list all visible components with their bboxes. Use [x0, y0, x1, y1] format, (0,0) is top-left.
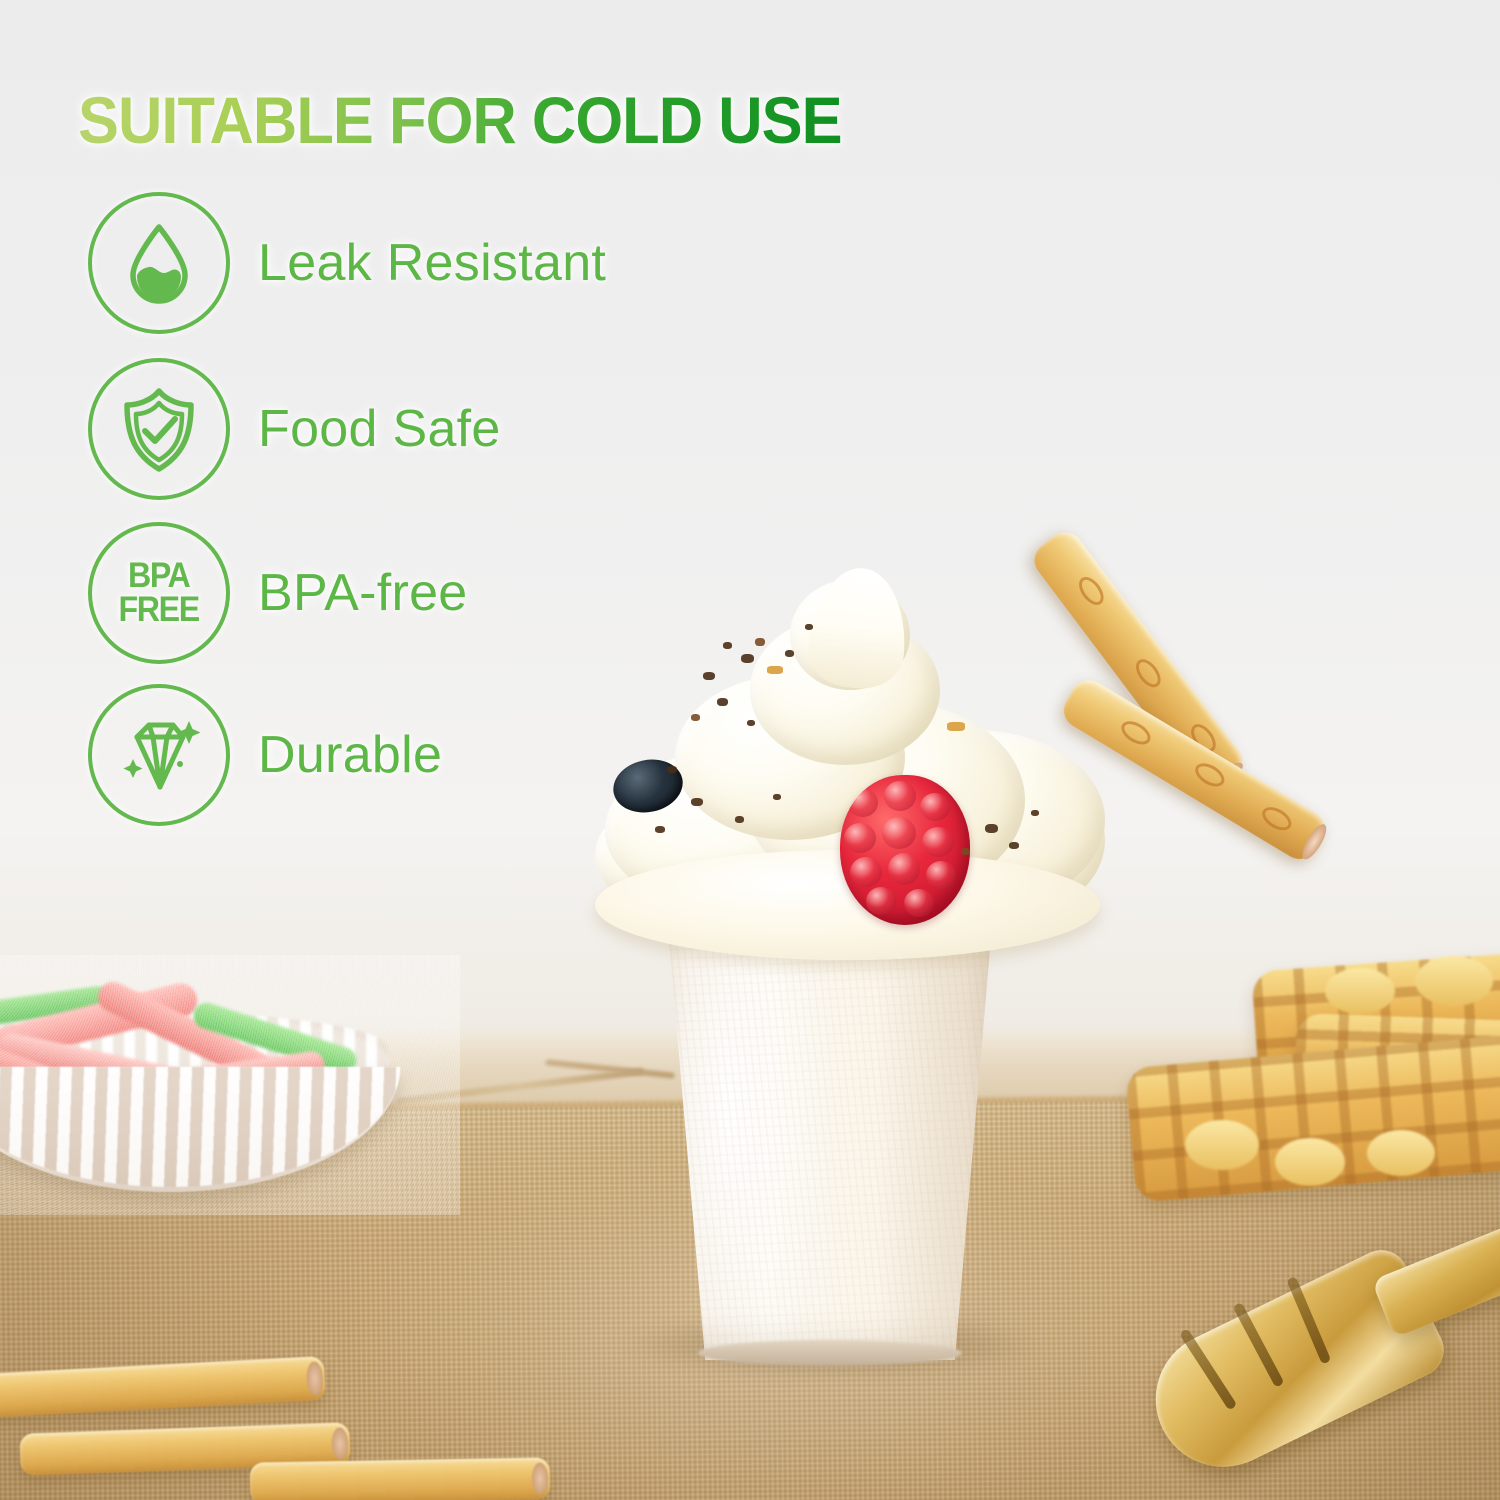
bpa-badge-line-1: BPA	[128, 559, 189, 593]
feature-item-food-safe: Food Safe	[88, 358, 501, 500]
feature-label: BPA-free	[258, 563, 468, 623]
water-drop-icon	[88, 192, 230, 334]
feature-item-leak-resistant: Leak Resistant	[88, 192, 606, 334]
bpa-free-icon: BPA FREE	[88, 522, 230, 664]
feature-label: Durable	[258, 725, 442, 785]
feature-label: Leak Resistant	[258, 233, 606, 293]
diamond-sparkle-icon	[88, 684, 230, 826]
feature-label: Food Safe	[258, 399, 501, 459]
bpa-badge-line-2: FREE	[119, 593, 199, 627]
page-title: SUITABLE FOR COLD USE	[78, 82, 842, 158]
feature-item-bpa-free: BPA FREE BPA-free	[88, 522, 468, 664]
feature-overlay: SUITABLE FOR COLD USE Leak Resistant Foo…	[0, 0, 1500, 1500]
product-feature-image: SUITABLE FOR COLD USE Leak Resistant Foo…	[0, 0, 1500, 1500]
feature-item-durable: Durable	[88, 684, 442, 826]
shield-check-icon	[88, 358, 230, 500]
bpa-badge-text: BPA FREE	[119, 559, 199, 628]
